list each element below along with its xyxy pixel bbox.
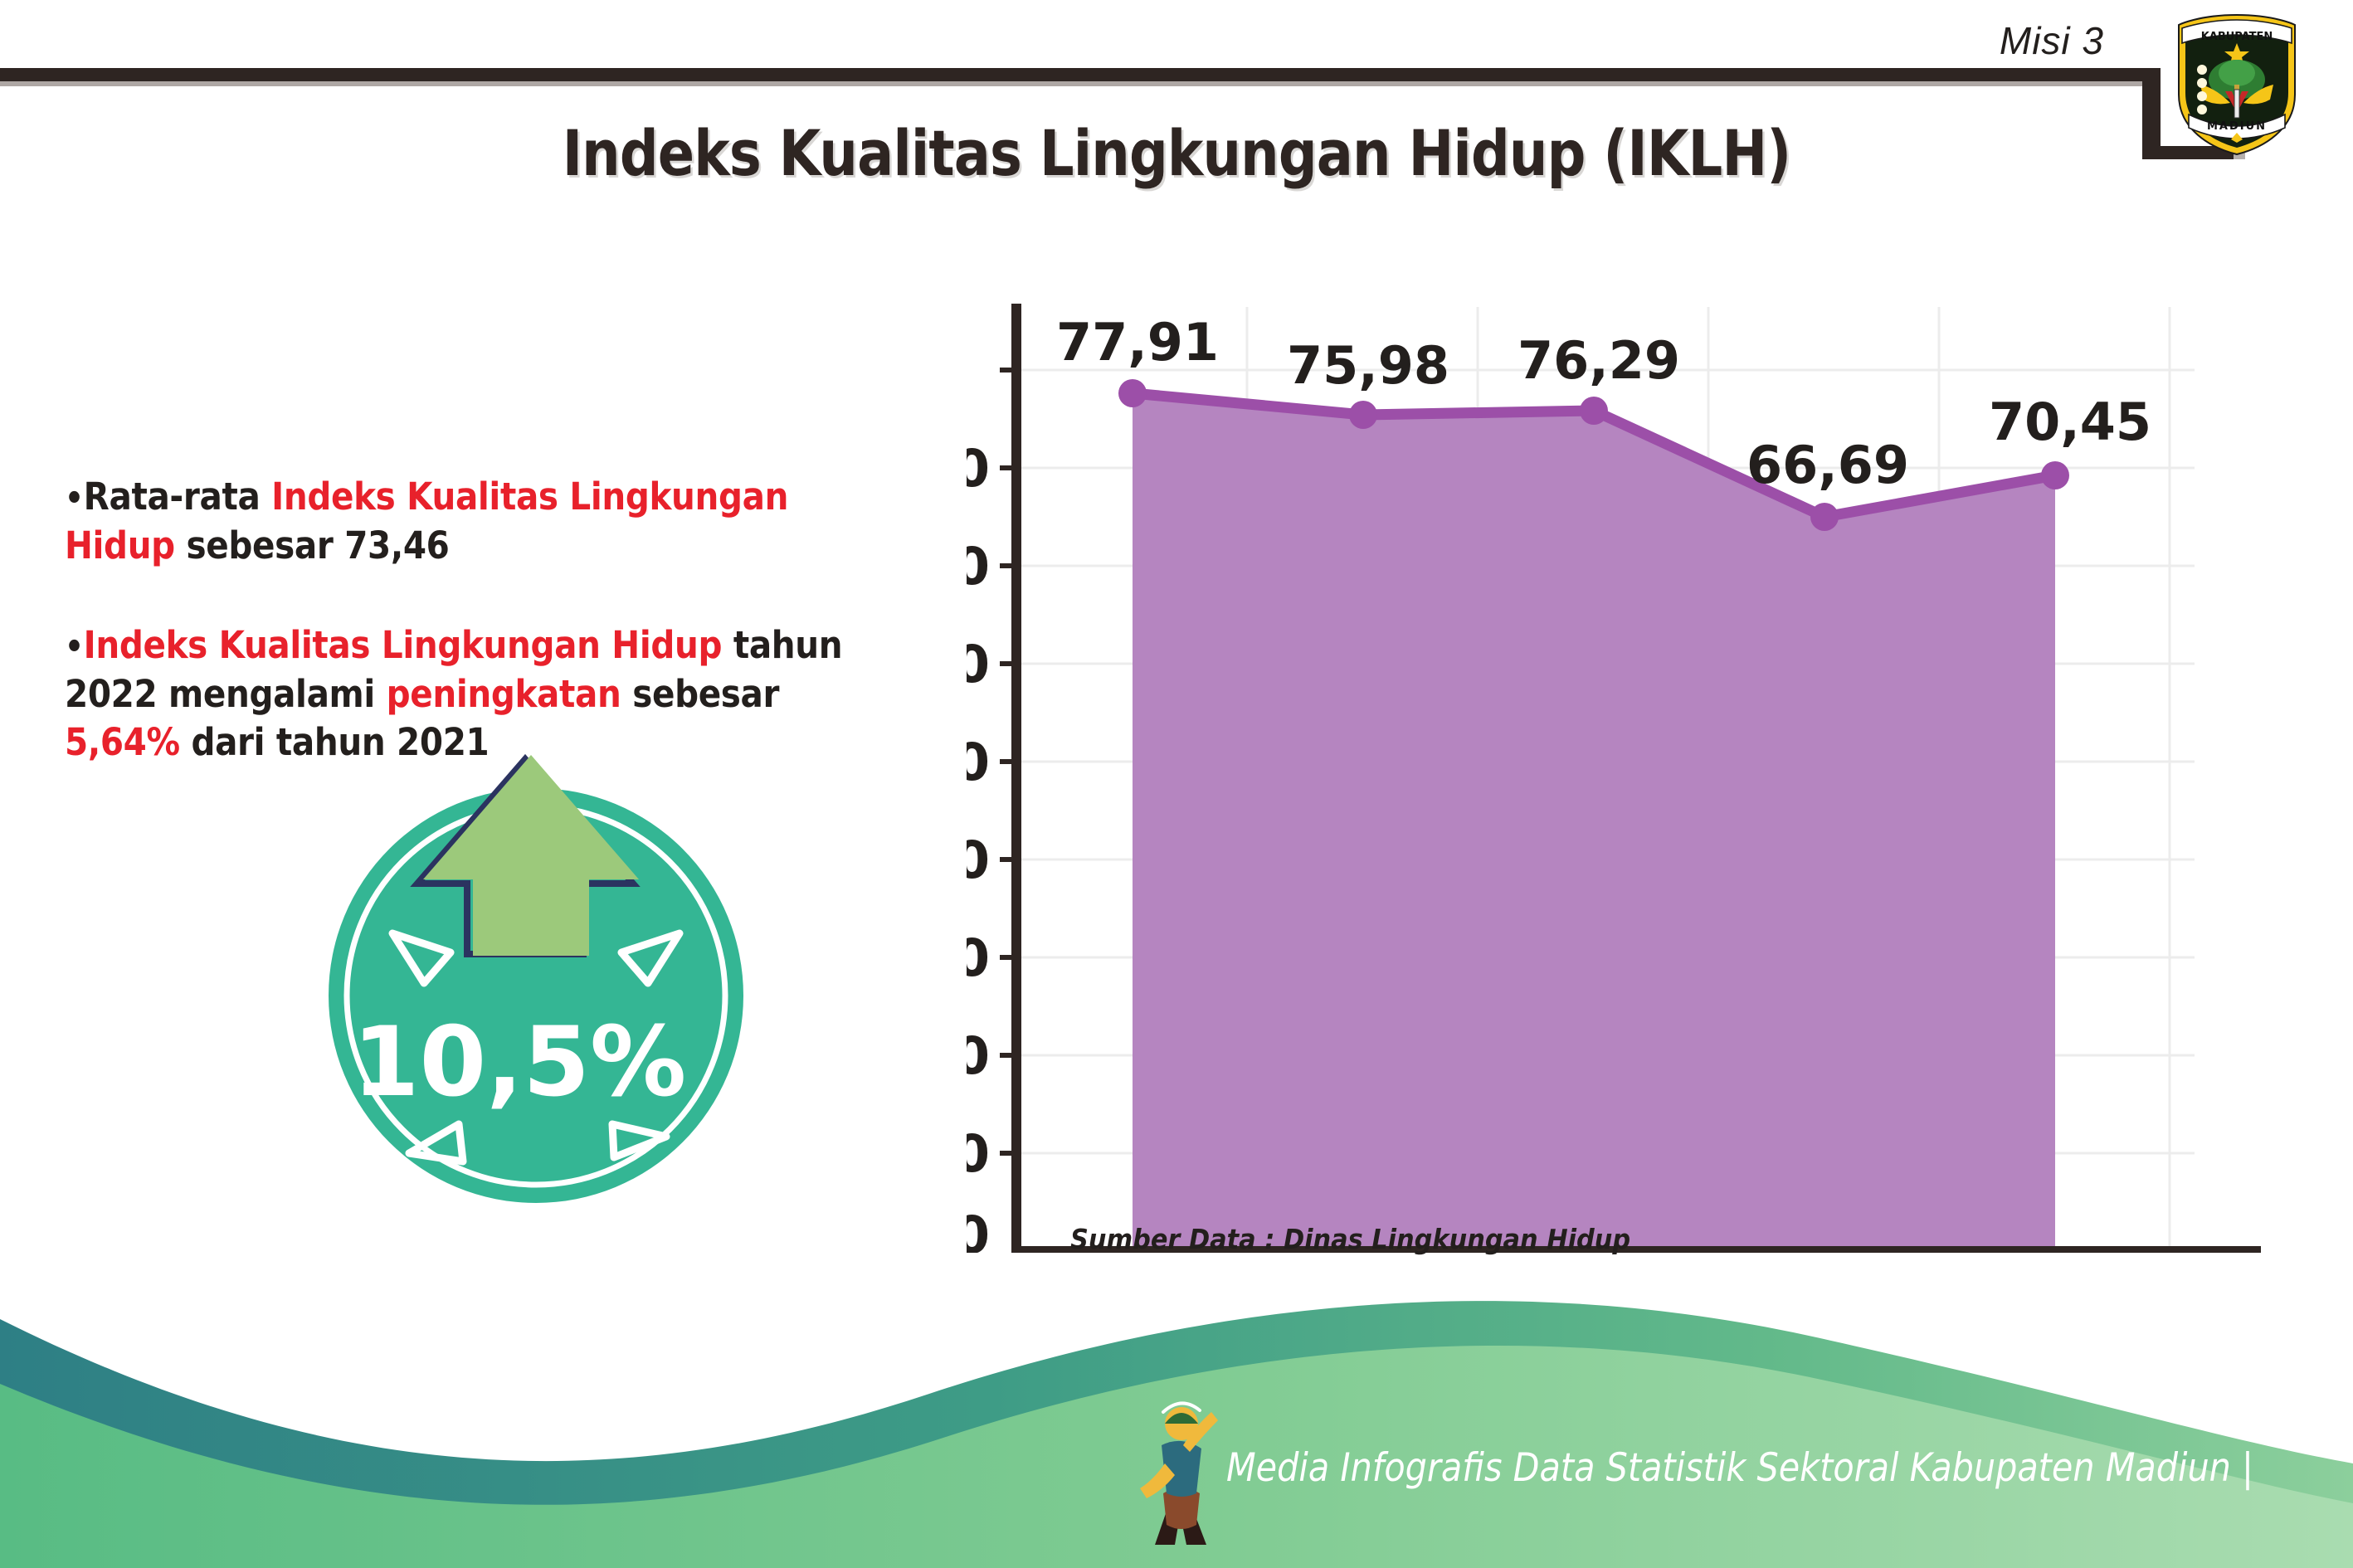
bullet-1-part-4: 5,64% — [65, 720, 180, 764]
crest-top-text: KABUPATEN — [2201, 31, 2273, 43]
chart-area-fill — [1133, 393, 2055, 1251]
bullet-0-part-2: sebesar 73,46 — [175, 523, 450, 567]
chart-data-label-2021: 66,69 — [1746, 435, 1909, 495]
chart-marker-2019 — [1349, 401, 1377, 429]
header-rule — [0, 68, 2149, 81]
bullet-1-part-3: sebesar — [621, 672, 779, 716]
bullet-marker-0: • — [65, 480, 84, 518]
chart-ytick-50: 50 — [967, 732, 990, 792]
bullet-marker-1: • — [65, 628, 84, 666]
chart-ytick-20: 20 — [967, 1025, 990, 1086]
chart-data-label-2019: 75,98 — [1287, 335, 1449, 396]
dancer-figure-logo — [1138, 1387, 1225, 1561]
badge-percent-value: 10,5% — [353, 1006, 686, 1118]
chart-marker-2020 — [1580, 397, 1608, 425]
chart-ytick-40: 40 — [967, 830, 990, 890]
iklh-area-chart: 77,91 75,98 76,29 66,69 70,45 0 — [967, 274, 2294, 1253]
chart-marker-2018 — [1118, 379, 1147, 407]
chart-ytick-60: 60 — [967, 634, 990, 694]
chart-data-label-2020: 76,29 — [1518, 330, 1680, 391]
chart-data-label-2018: 77,91 — [1056, 312, 1219, 373]
crest-bottom-text: MADIUN — [2207, 120, 2267, 133]
mission-label: Misi 3 — [2000, 18, 2104, 63]
bullet-1-part-2: peningkatan — [387, 672, 621, 716]
infographic-slide: Misi 3 KABUPATEN MADIUN Indeks Kualitas … — [0, 0, 2353, 1568]
chart-ytick-30: 30 — [967, 928, 990, 988]
chart-data-label-2022: 70,45 — [1989, 392, 2151, 452]
header-rule-shadow — [0, 81, 2149, 86]
kabupaten-madiun-crest-icon: KABUPATEN MADIUN — [2170, 8, 2303, 158]
bullet-0-part-0: Rata-rata — [84, 475, 272, 519]
bullet-item-increase: •Indeks Kualitas Lingkungan Hidup tahun … — [65, 621, 894, 767]
increase-badge: 10,5% — [314, 747, 762, 1211]
chart-ytick-80: 80 — [967, 438, 990, 499]
bullet-item-average: •Rata-rata Indeks Kualitas Lingkungan Hi… — [65, 473, 894, 570]
source-note: Sumber Data : Dinas Lingkungan Hidup — [1070, 1223, 1630, 1255]
chart-marker-2022 — [2041, 461, 2069, 489]
chart-marker-2021 — [1810, 503, 1839, 531]
chart-ytick-10: 10 — [967, 1123, 990, 1184]
chart-ytick-70: 70 — [967, 536, 990, 597]
chart-ytick-0: 0 — [967, 1205, 990, 1253]
page-title: Indeks Kualitas Lingkungan Hidup (IKLH) — [165, 116, 2189, 190]
footer-caption: Media Infografis Data Statistik Sektoral… — [1226, 1445, 2253, 1491]
bullet-1-part-0: Indeks Kualitas Lingkungan Hidup — [84, 623, 722, 667]
